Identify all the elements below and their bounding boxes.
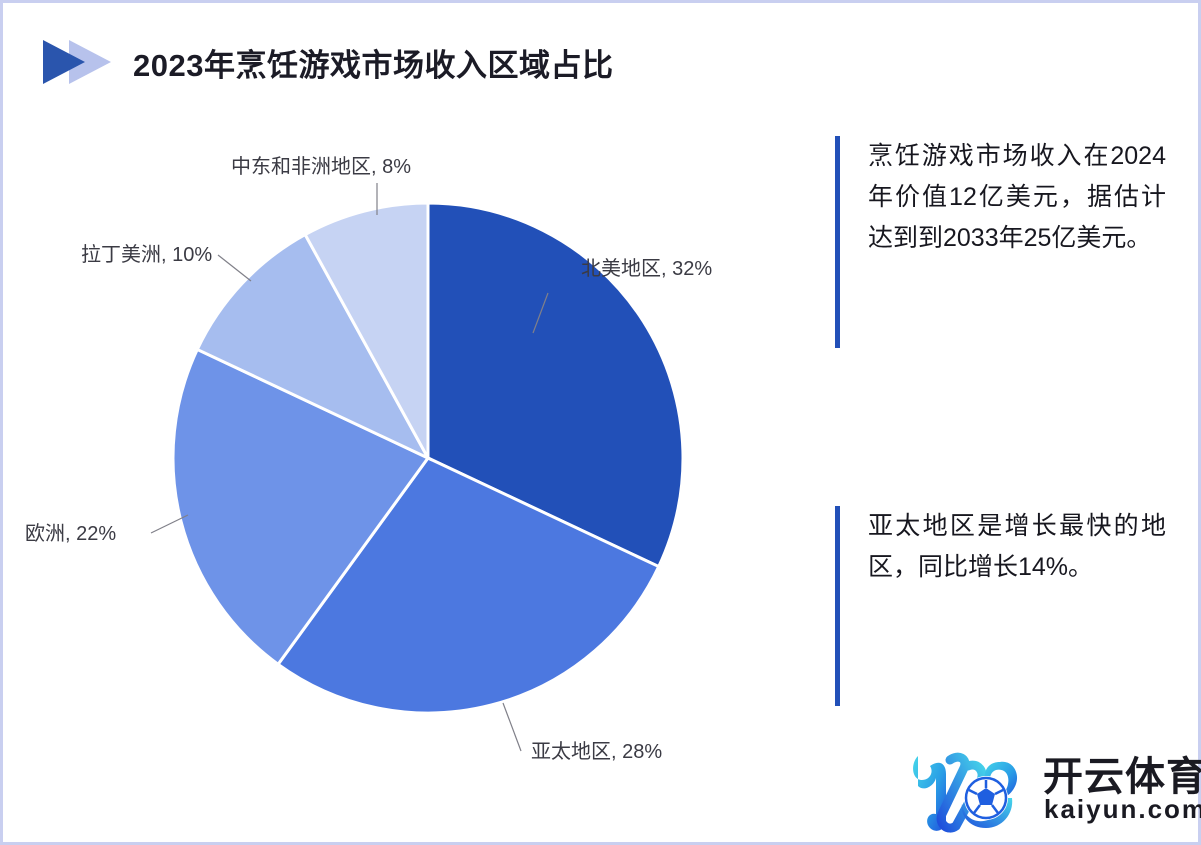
double-arrow-icon (41, 39, 119, 85)
pie-slice-label: 拉丁美洲, 10% (81, 243, 212, 266)
callout-market-revenue: 烹饪游戏市场收入在2024年价值12亿美元，据估计达到到2033年25亿美元。 (835, 136, 1166, 348)
callout-apac-growth: 亚太地区是增长最快的地区，同比增长14%。 (835, 506, 1166, 706)
callout-accent-bar (835, 506, 840, 706)
pie-slice-label: 中东和非洲地区, 8% (231, 155, 411, 178)
kaiyun-k-soccer-icon (908, 740, 1033, 843)
pie-slice-label: 亚太地区, 28% (531, 740, 662, 763)
page-title: 2023年烹饪游戏市场收入区域占比 (133, 40, 613, 85)
pie-leader-line (503, 703, 521, 751)
chart-page: 2023年烹饪游戏市场收入区域占比 北美地区, 32%亚太地区, 28%欧洲, … (0, 0, 1201, 845)
pie-slice-label: 欧洲, 22% (25, 522, 116, 545)
pie-slice-label: 北美地区, 32% (581, 257, 712, 280)
pie-chart: 北美地区, 32%亚太地区, 28%欧洲, 22%拉丁美洲, 10%中东和非洲地… (3, 103, 833, 845)
callout-text: 烹饪游戏市场收入在2024年价值12亿美元，据估计达到到2033年25亿美元。 (868, 136, 1166, 259)
logo-url: kaiyun.com (1044, 794, 1201, 825)
pie-leader-line (218, 255, 251, 281)
brand-logo[interactable]: 开云体育 kaiyun.com (908, 738, 1188, 838)
callout-text: 亚太地区是增长最快的地区，同比增长14%。 (868, 506, 1166, 588)
page-header: 2023年烹饪游戏市场收入区域占比 (41, 39, 613, 85)
callout-accent-bar (835, 136, 840, 348)
